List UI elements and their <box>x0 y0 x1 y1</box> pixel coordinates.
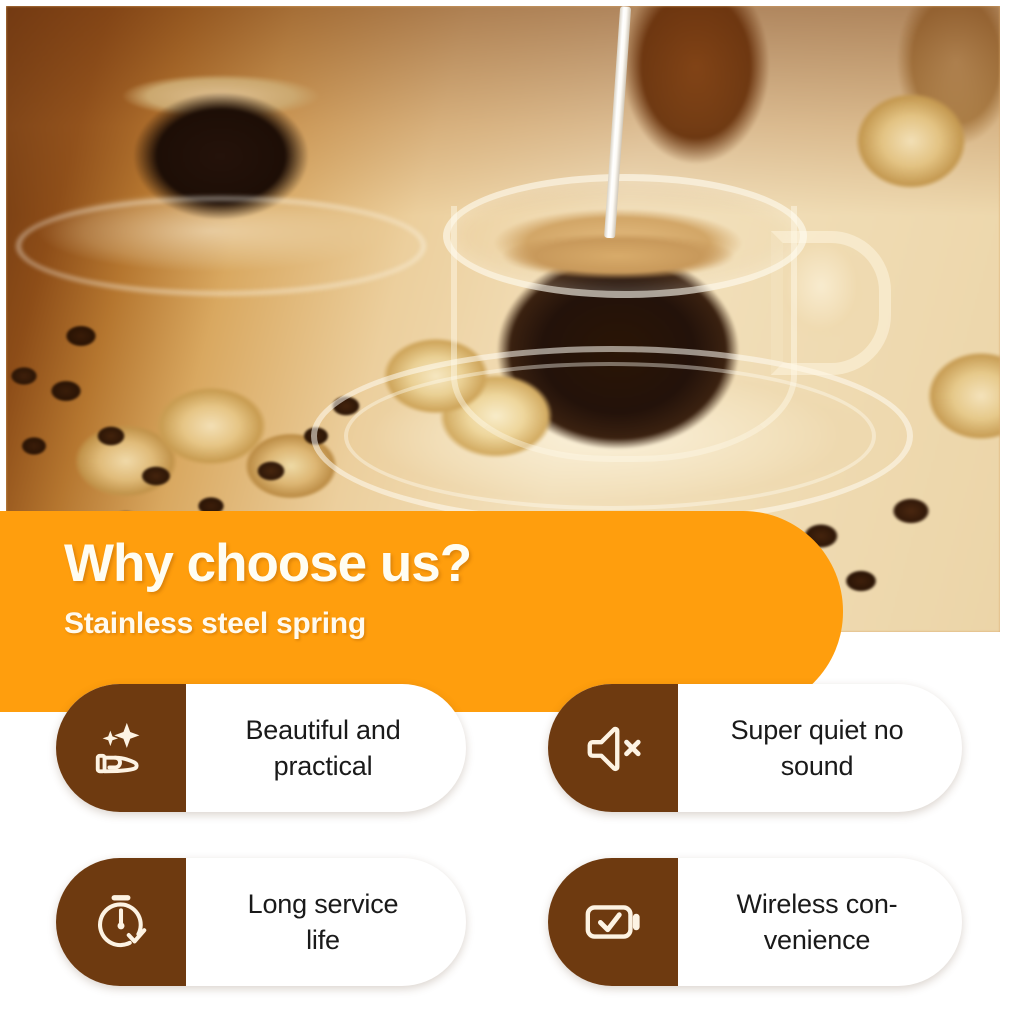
feature-label: Super quiet no sound <box>678 684 962 812</box>
feature-label-line-1: Long service <box>248 889 399 919</box>
feature-card-beautiful-and-practical[interactable]: Beautiful and practical <box>56 684 466 812</box>
feature-label-line-2: sound <box>781 751 854 781</box>
background-saucer <box>16 196 426 296</box>
feature-label-line-2: practical <box>274 751 373 781</box>
glass-cup-rim <box>443 174 807 298</box>
stopwatch-check-icon <box>90 891 152 953</box>
battery-check-icon <box>582 891 644 953</box>
feature-label-line-1: Super quiet no <box>731 715 904 745</box>
feature-card-wireless-convenience[interactable]: Wireless con- venience <box>548 858 962 986</box>
feature-label: Beautiful and practical <box>186 684 466 812</box>
feature-label-line-2: venience <box>764 925 870 955</box>
banner-title: Why choose us? <box>64 533 471 594</box>
feature-label-line-1: Beautiful and <box>245 715 400 745</box>
feature-label: Long service life <box>186 858 466 986</box>
feature-label-line-2: life <box>306 925 340 955</box>
speaker-mute-icon <box>582 717 644 779</box>
feature-icon-container <box>56 858 186 986</box>
banner-subtitle: Stainless steel spring <box>64 607 366 641</box>
feature-label-line-1: Wireless con- <box>737 889 898 919</box>
feature-icon-container <box>548 684 678 812</box>
feature-card-super-quiet-no-sound[interactable]: Super quiet no sound <box>548 684 962 812</box>
feature-card-long-service-life[interactable]: Long service life <box>56 858 466 986</box>
why-choose-us-banner: Why choose us? Stainless steel spring <box>0 511 843 712</box>
feature-label: Wireless con- venience <box>678 858 962 986</box>
feature-icon-container <box>56 684 186 812</box>
feature-icon-container <box>548 858 678 986</box>
hand-sparkle-icon <box>90 717 152 779</box>
